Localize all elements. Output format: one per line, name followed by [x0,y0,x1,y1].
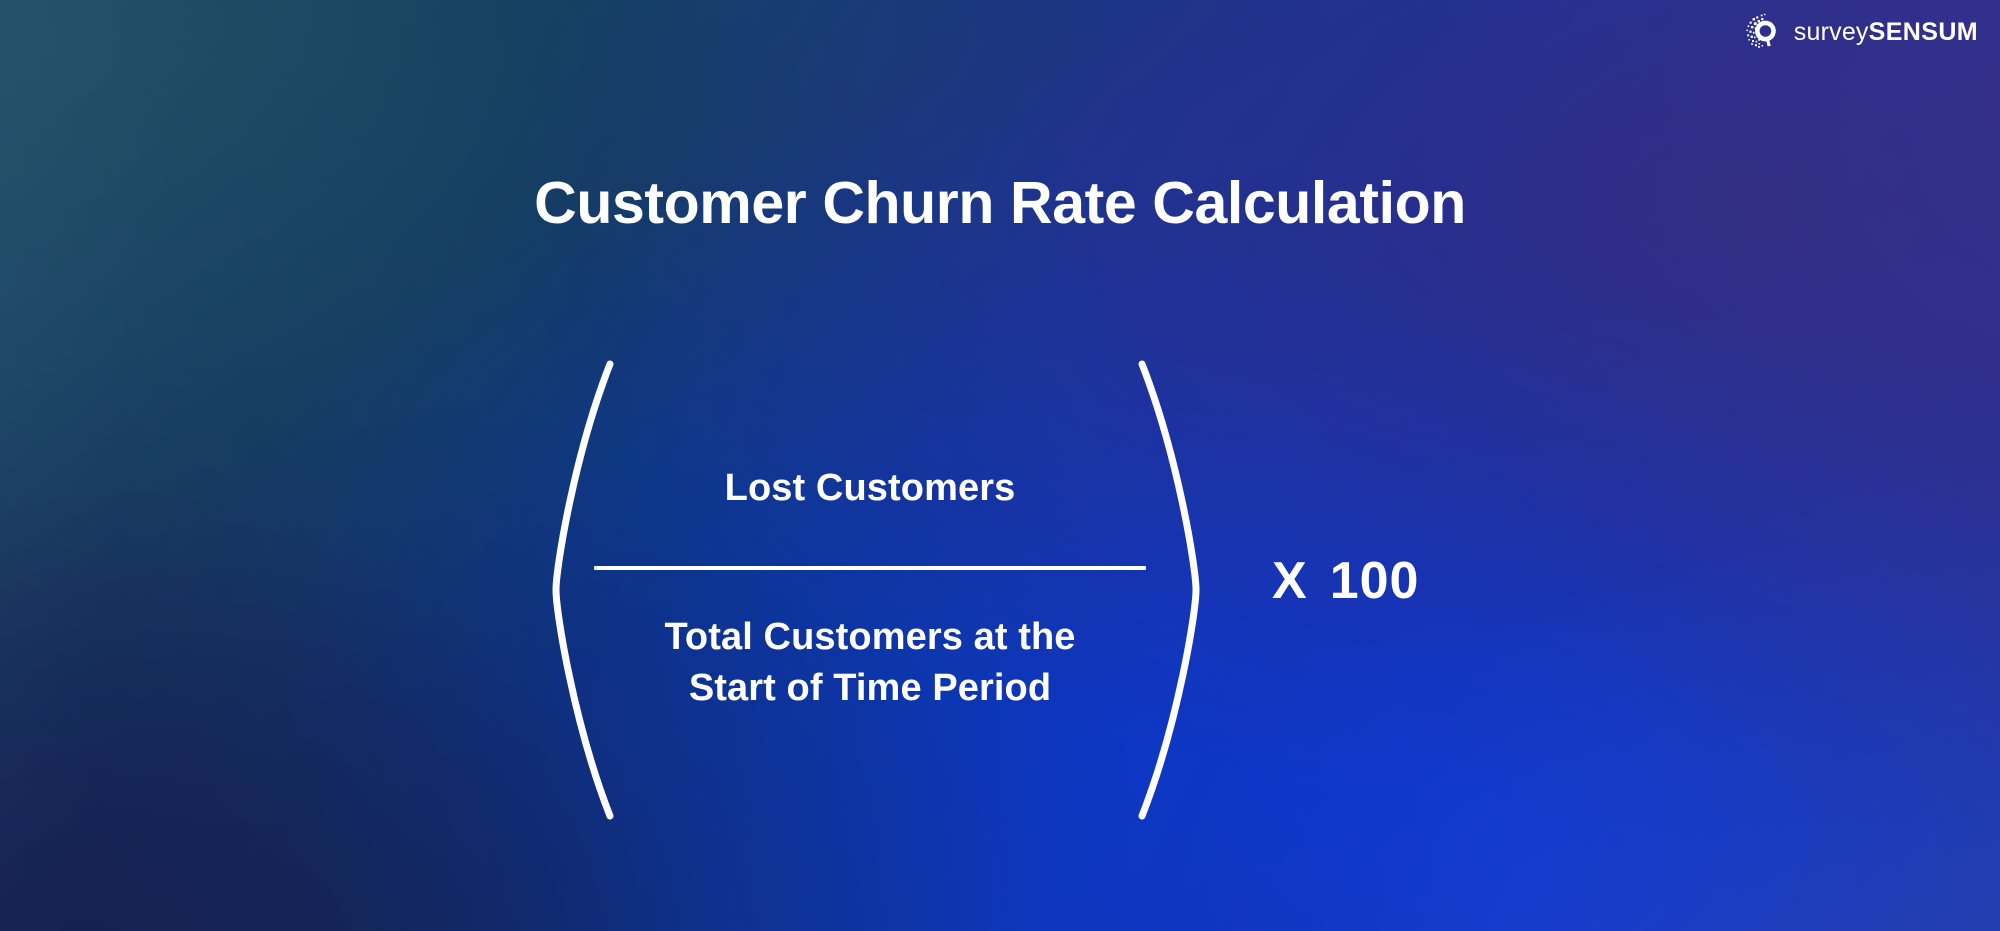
fraction-denominator: Total Customers at the Start of Time Per… [588,612,1152,713]
brand-logo: surveySENSUM [1745,12,1978,52]
multiply-symbol: X [1272,552,1308,610]
swoosh-top-right [1420,0,2000,860]
brand-name-light: survey [1794,18,1869,46]
close-parenthesis-icon [1126,360,1204,820]
pixelated-q-logo-icon [1745,12,1785,52]
churn-rate-slide: surveySENSUM Customer Churn Rate Calcula… [0,0,2000,931]
page-title: Customer Churn Rate Calculation [0,172,2000,236]
denominator-line-1: Total Customers at the [588,612,1152,663]
fraction: Lost Customers Total Customers at the St… [594,360,1146,820]
multiply-value: 100 [1330,552,1420,610]
fraction-numerator: Lost Customers [594,468,1146,510]
brand-name-bold: SENSUM [1869,18,1978,46]
multiplier: X100 [1272,555,1419,607]
fraction-bar [594,566,1146,570]
denominator-line-2: Start of Time Period [588,663,1152,714]
brand-wordmark: surveySENSUM [1794,20,1978,45]
churn-formula: Lost Customers Total Customers at the St… [540,360,1200,820]
